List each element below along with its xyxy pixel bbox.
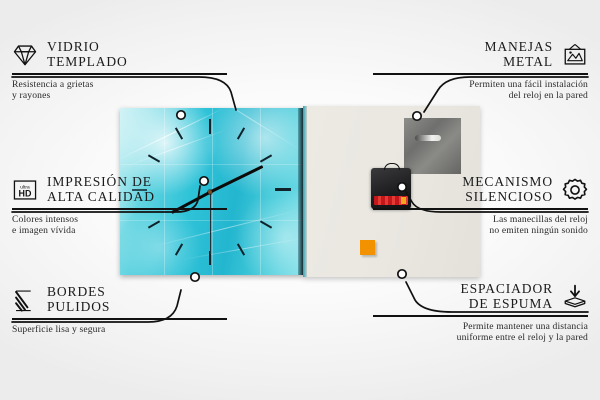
feature-title-line2: DE ESPUMA	[460, 297, 553, 312]
feature-title-line1: IMPRESIÓN DE	[47, 175, 155, 190]
feature-sub-line1: Permite mantener una distancia	[373, 321, 588, 333]
feature-divider	[373, 315, 588, 317]
feature-divider	[12, 208, 227, 210]
svg-text:HD: HD	[19, 188, 32, 198]
feature-divider	[12, 73, 227, 75]
picture-frame-icon	[562, 42, 588, 68]
feature-bordes-pulidos[interactable]: BORDES PULIDOS Superficie lisa y segura	[12, 285, 227, 335]
feature-title-line2: PULIDOS	[47, 300, 110, 315]
diamond-icon	[12, 42, 38, 68]
feature-sub-line2: no emiten ningún sonido	[373, 225, 588, 237]
feature-title-line1: BORDES	[47, 285, 110, 300]
ultra-hd-icon: ultra HD	[12, 177, 38, 203]
feature-title-line2: ALTA CALIDAD	[47, 190, 155, 205]
feature-sub-line2: e imagen vívida	[12, 225, 227, 237]
infographic-canvas: VIDRIO TEMPLADO Resistencia a grietas y …	[0, 0, 600, 400]
feature-sub-line1: Resistencia a grietas	[12, 79, 227, 91]
feature-sub-line1: Colores intensos	[12, 214, 227, 226]
feature-title-line2: METAL	[484, 55, 553, 70]
feature-title-line1: MANEJAS	[484, 40, 553, 55]
feature-title-line1: MECANISMO	[462, 175, 553, 190]
feature-sub-line1: Las manecillas del reloj	[373, 214, 588, 226]
feature-divider	[373, 73, 588, 75]
feature-sub-line1: Superficie lisa y segura	[12, 324, 227, 336]
feature-sub-line2: del reloj en la pared	[373, 90, 588, 102]
feature-divider	[12, 318, 227, 320]
gear-icon	[562, 177, 588, 203]
feature-title-line1: VIDRIO	[47, 40, 128, 55]
feature-espaciador-espuma[interactable]: ESPACIADOR DE ESPUMA Permite mantener un…	[373, 282, 588, 344]
foam-spacer-icon	[562, 284, 588, 310]
feature-sub-line1: Permiten una fácil instalación	[373, 79, 588, 91]
feature-vidrio-templado[interactable]: VIDRIO TEMPLADO Resistencia a grietas y …	[12, 40, 227, 102]
feature-title-line2: TEMPLADO	[47, 55, 128, 70]
feature-divider	[373, 208, 588, 210]
polished-edges-icon	[12, 287, 38, 313]
feature-mecanismo-silencioso[interactable]: MECANISMO SILENCIOSO Las manecillas del …	[373, 175, 588, 237]
foam-spacer-pad	[360, 240, 375, 255]
feature-sub-line2: y rayones	[12, 90, 227, 102]
feature-manejas-metal[interactable]: MANEJAS METAL Permiten una fácil instala…	[373, 40, 588, 102]
feature-title-line1: ESPACIADOR	[460, 282, 553, 297]
feature-title-line2: SILENCIOSO	[462, 190, 553, 205]
feature-sub-line2: uniforme entre el reloj y la pared	[373, 332, 588, 344]
feature-impresion-alta-calidad[interactable]: ultra HD IMPRESIÓN DE ALTA CALIDAD Color…	[12, 175, 227, 237]
metal-hanger-plate	[404, 118, 461, 174]
